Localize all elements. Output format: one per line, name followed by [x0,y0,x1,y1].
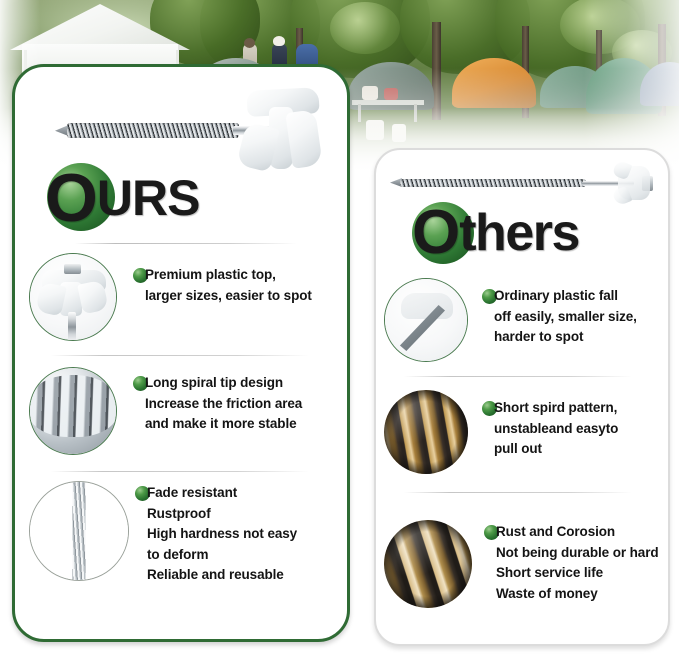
small-plastic-top [401,293,453,319]
others-feature-2-text: Short spird pattern, unstableand easyto … [488,398,618,460]
others-heading: O thers [412,196,579,270]
others-feature-3-text: Rust and Corosion Not being durable or h… [490,522,659,604]
thumbnail-vignette [384,520,472,608]
plastic-top-hook-right [285,109,323,169]
others-feature-1-text: Ordinary plastic fall off easily, smalle… [488,286,637,348]
ours-feature-2: Long spiral tip design Increase the fric… [29,367,339,455]
infographic-canvas: O URS Premium plastic top, larger sizes,… [0,0,679,667]
thumbnail-vignette [384,390,468,474]
ours-feature-1-text: Premium plastic top, larger sizes, easie… [139,265,312,306]
spiral-rod-closeup [73,482,86,580]
ours-heading-cap: O [45,164,97,232]
ours-feature-3-text: Fade resistant Rustproof High hardness n… [141,483,297,586]
spiral-thread [400,179,586,187]
others-heading-rest: thers [459,207,579,259]
others-feature-1: Ordinary plastic fall off easily, smalle… [384,278,666,362]
feature-divider [51,471,309,472]
thumbnail-shaft [68,312,76,341]
spiral-thread-closeup [29,375,117,437]
thumbnail-nut [64,264,81,274]
ours-heading-rule [75,243,297,244]
ours-feature-2-thumbnail [29,367,117,455]
ours-heading: O URS [45,159,199,237]
others-feature-1-thumbnail [384,278,468,362]
ours-feature-2-text: Long spiral tip design Increase the fric… [139,373,302,435]
ours-feature-1-thumbnail [29,253,117,341]
ours-panel: O URS Premium plastic top, larger sizes,… [12,64,350,642]
spiral-thread [67,123,239,138]
ours-feature-3-thumbnail [29,481,129,581]
ours-heading-rest: URS [97,173,200,223]
others-feature-2: Short spird pattern, unstableand easyto … [384,390,666,474]
others-panel: O thers Ordinary plastic fall off easily… [374,148,670,646]
ours-feature-1: Premium plastic top, larger sizes, easie… [29,253,339,341]
feature-divider [404,376,632,377]
others-feature-3: Rust and Corosion Not being durable or h… [384,520,670,608]
feature-divider [51,355,309,356]
feature-divider [404,492,632,493]
others-heading-cap: O [412,202,459,264]
others-feature-2-thumbnail [384,390,468,474]
others-feature-3-thumbnail [384,520,472,608]
ours-feature-3: Fade resistant Rustproof High hardness n… [29,481,339,586]
